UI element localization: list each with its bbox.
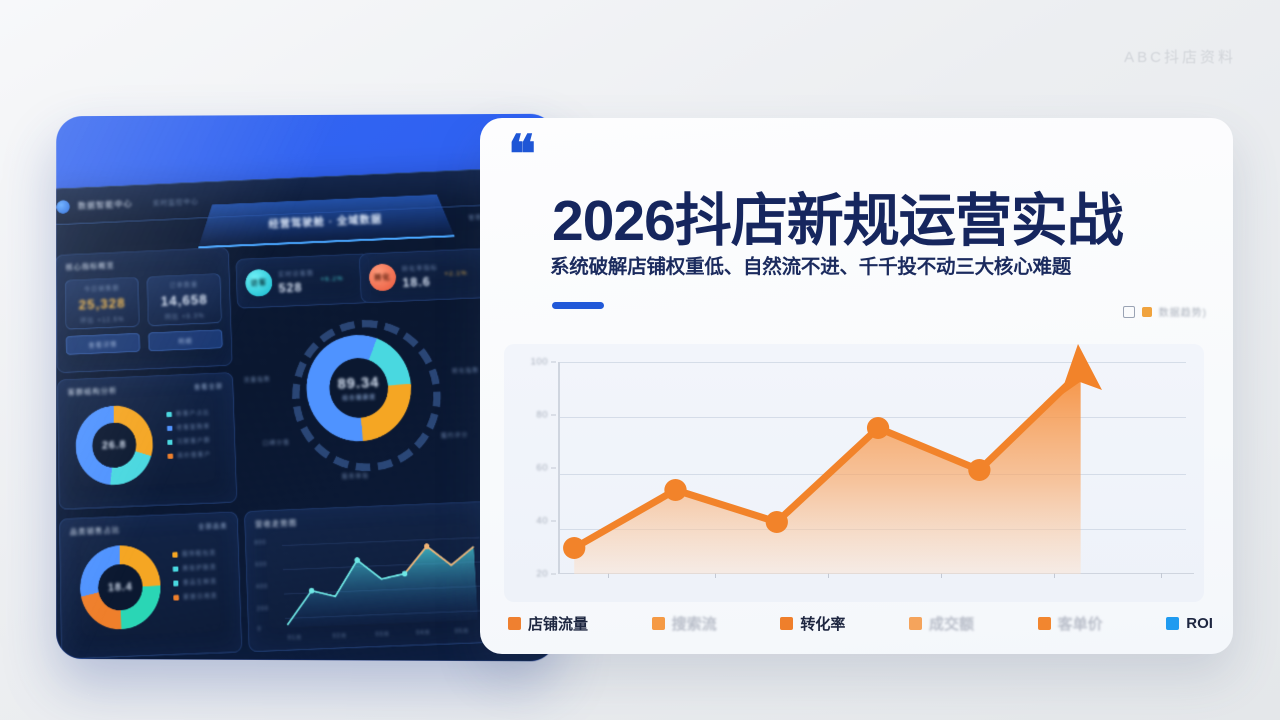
- legend-label: 店铺流量: [528, 613, 588, 634]
- legend-item-unit-price[interactable]: 客单价: [1038, 613, 1103, 634]
- kpi-delta: 环比 +12.5%: [80, 313, 125, 324]
- kpi-detail-label: 查看详情: [88, 339, 117, 350]
- page-subtitle: 系统破解店铺权重低、自然流不进、千千投不动三大核心难题: [550, 250, 1220, 279]
- app-logo-icon: [56, 199, 69, 213]
- legend-row: 食品生鲜类: [173, 577, 217, 588]
- customer-donut-chart: 26.8: [75, 404, 154, 486]
- trend-y-label: 800: [254, 540, 266, 547]
- conversion-badge-icon: 转化: [368, 263, 396, 291]
- legend-row: 家居日用类: [173, 591, 217, 602]
- quote-mark-icon: ❝: [508, 140, 536, 171]
- y-tick-label: 60: [536, 463, 548, 474]
- chart-data-points: [558, 362, 1186, 574]
- gauge-tick-label: 转化指数: [452, 366, 480, 376]
- legend-label: 转化率: [800, 613, 845, 634]
- legend-label: 客单价: [1058, 613, 1103, 634]
- realtime-visitor-card: 访客 实时访客数 528 +6.2%: [235, 253, 371, 309]
- conversion-delta: +2.1%: [444, 271, 467, 278]
- conversion-card: 转化 转化率指标 18.6 +2.1%: [359, 248, 496, 304]
- legend-row: 美妆护肤类: [173, 562, 217, 573]
- chart-legend: 店铺流量 搜索流 转化率 成交额 客单价 ROI: [508, 613, 1213, 634]
- trend-y-label: 200: [257, 606, 269, 613]
- kpi-card: 订单数量 14,658 同比 +8.3%: [147, 273, 222, 326]
- kpi-card: 今日销售额 25,328 环比 +12.5%: [65, 277, 140, 330]
- legend-label: 食品生鲜类: [183, 577, 218, 587]
- visitor-badge-label: 访客: [250, 277, 267, 288]
- legend-label: 新客户占比: [176, 408, 210, 418]
- kpi-value: 25,328: [78, 295, 125, 313]
- legend-label: 搜索流: [672, 613, 717, 634]
- gauge-tick-label: 服务体验: [342, 471, 370, 481]
- visitor-badge-icon: 访客: [245, 269, 273, 297]
- legend-label: 服饰鞋包类: [182, 548, 217, 558]
- y-tick-label: 100: [531, 357, 548, 368]
- gauge-caption: 综合健康度: [342, 392, 376, 402]
- legend-swatch: [1166, 617, 1179, 630]
- growth-chart: 100 80 60 40 20: [504, 344, 1204, 602]
- trend-x-label: 03月: [375, 630, 390, 638]
- category-panel-title: 品类销售占比: [70, 525, 121, 538]
- legend-swatch: [1038, 617, 1051, 630]
- revenue-trend-chart: [282, 527, 485, 630]
- trend-y-label: 400: [256, 584, 268, 591]
- legend-label: 家居日用类: [183, 591, 218, 601]
- legend-item-gmv[interactable]: 成交额: [909, 613, 974, 634]
- kpi-panel-title: 核心指标概览: [66, 260, 115, 272]
- legend-label: 老客复购率: [176, 422, 210, 432]
- legend-label: 沉默客户群: [177, 436, 211, 446]
- kpi-panel: 核心指标概览 今日销售额 25,328 环比 +12.5% 订单数量 14,65…: [56, 247, 233, 373]
- legend-item-search-traffic[interactable]: 搜索流: [652, 613, 717, 634]
- trend-y-label: 0: [258, 626, 262, 633]
- legend-swatch: [780, 617, 793, 630]
- accent-divider: [552, 302, 604, 309]
- customer-structure-panel: 客群结构分析 查看全部 26.8 新客户占比 老客复购率 沉默客户群 高价值客户: [57, 372, 237, 510]
- kpi-label: 今日销售额: [84, 282, 120, 293]
- legend-row: 沉默客户群: [167, 436, 211, 446]
- legend-row: 新客户占比: [167, 408, 210, 418]
- conversion-badge-label: 转化: [374, 272, 391, 283]
- legend-swatch: [508, 617, 521, 630]
- gauge-donut: 89.34 综合健康度: [304, 333, 413, 444]
- trend-x-label: 01月: [288, 633, 303, 641]
- category-donut-chart: 18.4: [80, 544, 162, 631]
- y-tick-label: 80: [536, 410, 548, 421]
- chart-header: 数据趋势): [1123, 304, 1207, 319]
- customer-structure-title: 客群结构分析: [68, 385, 118, 398]
- legend-label: 美妆护肤类: [182, 562, 217, 572]
- dashboard-subtitle: 实时监控中心: [153, 195, 199, 207]
- kpi-delta: 同比 +8.3%: [165, 310, 205, 321]
- legend-label: 成交额: [929, 613, 974, 634]
- revenue-trend-panel: 营收走势图: [244, 501, 498, 652]
- gauge-tick-label: 履约评分: [441, 430, 469, 440]
- dashboard-title: 数据智能中心: [78, 198, 133, 212]
- trend-x-label: 04月: [416, 628, 431, 636]
- customer-structure-link[interactable]: 查看全部: [194, 381, 223, 392]
- category-donut-legend: 服饰鞋包类 美妆护肤类 食品生鲜类 家居日用类: [172, 548, 217, 601]
- status-dot-icon: [1142, 307, 1152, 317]
- legend-swatch: [652, 617, 665, 630]
- legend-item-roi[interactable]: ROI: [1166, 615, 1213, 632]
- gauge-value: 89.34: [337, 373, 380, 392]
- legend-label: 高价值客户: [177, 450, 211, 460]
- customer-donut-legend: 新客户占比 老客复购率 沉默客户群 高价值客户: [167, 408, 212, 460]
- chart-y-axis: 100 80 60 40 20: [514, 362, 558, 574]
- y-tick-label: 40: [536, 516, 548, 527]
- content-card: ❝ 2026抖店新规运营实战 系统破解店铺权重低、自然流不进、千千投不动三大核心…: [480, 118, 1233, 654]
- conversion-value: 18.6: [402, 273, 439, 289]
- trend-x-label: 02月: [333, 632, 348, 640]
- gauge-tick-label: 口碑分值: [262, 438, 290, 448]
- legend-row: 高价值客户: [168, 450, 212, 460]
- visitor-label: 实时访客数: [278, 267, 314, 278]
- legend-label: ROI: [1186, 615, 1213, 632]
- chart-header-label: 数据趋势): [1159, 304, 1207, 319]
- trend-y-label: 600: [255, 562, 267, 569]
- kpi-more-button[interactable]: 明细: [148, 329, 223, 351]
- revenue-trend-title: 营收走势图: [255, 518, 298, 531]
- kpi-detail-button[interactable]: 查看详情: [66, 333, 141, 355]
- legend-item-store-traffic[interactable]: 店铺流量: [508, 613, 588, 634]
- category-donut-value: 18.4: [80, 544, 162, 631]
- legend-swatch: [909, 617, 922, 630]
- kpi-label: 订单数量: [169, 279, 198, 290]
- kpi-more-label: 明细: [178, 335, 193, 345]
- dashboard-banner-label: 经营驾驶舱 · 全域数据: [268, 210, 382, 230]
- y-tick-label: 20: [536, 569, 548, 580]
- conversion-label: 转化率指标: [401, 262, 438, 273]
- calendar-icon[interactable]: [1123, 306, 1135, 318]
- category-panel-link[interactable]: 全部品类: [198, 520, 228, 531]
- category-sales-panel: 品类销售占比 全部品类 18.4 服饰鞋包类 美妆护肤类 食品生鲜类 家居日用类: [59, 511, 242, 659]
- health-gauge-panel: 89.34 综合健康度 流量指数 转化指数 口碑分值 履约评分 服务体验: [241, 305, 482, 512]
- visitor-delta: +6.2%: [321, 276, 344, 283]
- legend-row: 服饰鞋包类: [172, 548, 216, 559]
- page-title: 2026抖店新规运营实战: [552, 192, 1212, 252]
- trend-x-label: 05月: [455, 627, 470, 635]
- legend-row: 老客复购率: [167, 422, 211, 432]
- page-watermark: ABC抖店资料: [1124, 46, 1236, 67]
- gauge-tick-label: 流量指数: [244, 375, 271, 385]
- kpi-value: 14,658: [160, 291, 207, 309]
- chart-plot-area: [558, 362, 1186, 574]
- legend-item-conversion-rate[interactable]: 转化率: [780, 613, 845, 634]
- visitor-value: 528: [278, 279, 315, 295]
- customer-donut-value: 26.8: [75, 404, 154, 486]
